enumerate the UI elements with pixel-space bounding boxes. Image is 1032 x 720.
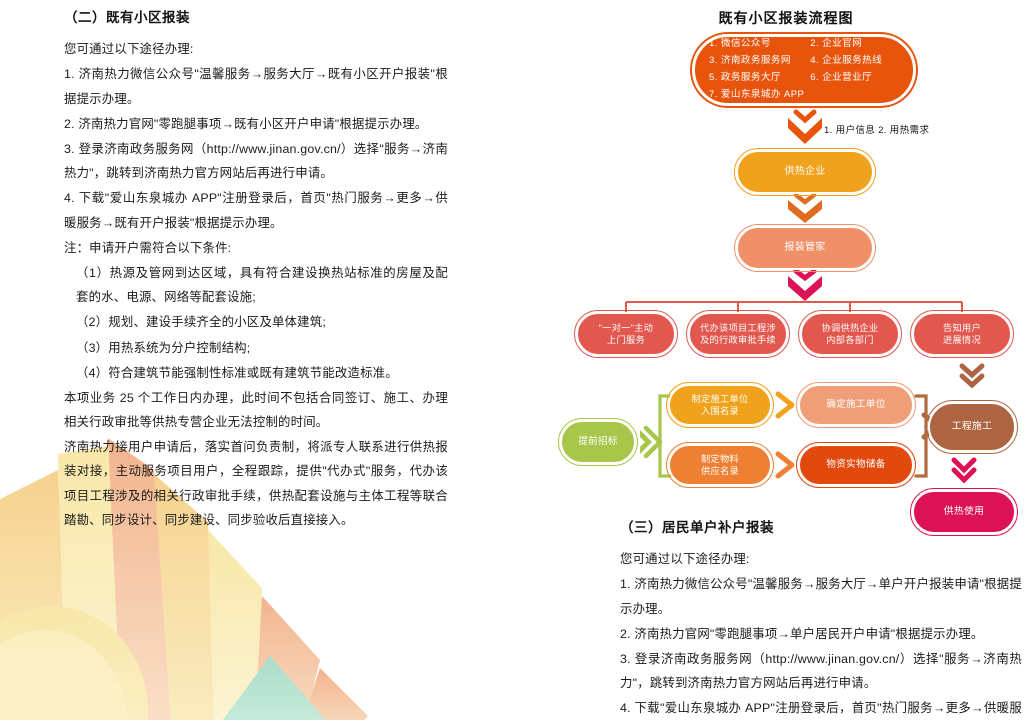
entry-channel-item: 4. 企业服务热线 bbox=[810, 54, 899, 69]
arrow-right-icon bbox=[778, 454, 792, 476]
flow-node-confirm-contractor[interactable]: 确定施工单位 bbox=[798, 384, 914, 426]
section-single-household: （三）居民单户补户报装 您可通过以下途径办理: 1. 济南热力微信公众号"温馨服… bbox=[604, 518, 1022, 720]
flow-node-entry-channels[interactable]: 1. 微信公众号 2. 企业官网 3. 济南政务服务网 4. 企业服务热线 5.… bbox=[692, 34, 916, 106]
entry-channel-item: 7. 爱山东泉城办 APP bbox=[709, 88, 804, 103]
entry-channel-list: 1. 微信公众号 2. 企业官网 3. 济南政务服务网 4. 企业服务热线 5.… bbox=[695, 33, 913, 106]
section-heading-single-household: （三）居民单户补户报装 bbox=[604, 518, 1022, 538]
chevron-down-icon bbox=[954, 460, 974, 480]
page-root: （二）既有小区报装 您可通过以下途径办理: 1. 济南热力微信公众号"温馨服务→… bbox=[0, 0, 1032, 720]
paragraph: 本项业务 25 个工作日内办理，此时间不包括合同签订、施工、办理相关行政审批等供… bbox=[48, 386, 448, 434]
paragraph: 1. 济南热力微信公众号"温馨服务→服务大厅→既有小区开户报装"根据提示办理。 bbox=[48, 62, 448, 110]
paragraph: 您可通过以下途径办理: bbox=[604, 547, 1022, 571]
paragraph: （4）符合建筑节能强制性标准或既有建筑节能改造标准。 bbox=[48, 361, 448, 385]
flow-node-service-onsite[interactable]: "一对一"主动 上门服务 bbox=[576, 312, 676, 356]
paragraph: 您可通过以下途径办理: bbox=[48, 37, 448, 61]
flow-node-service-permits[interactable]: 代办该项目工程涉 及的行政审批手续 bbox=[688, 312, 788, 356]
entry-channel-item: 3. 济南政务服务网 bbox=[709, 54, 804, 69]
paragraph: 1. 济南热力微信公众号"温馨服务→服务大厅→单户开户报装申请"根据提示办理。 bbox=[604, 572, 1022, 620]
flow-node-install-butler[interactable]: 报装管家 bbox=[736, 226, 874, 270]
arrow-right-icon bbox=[778, 394, 792, 416]
service-bus-connector bbox=[626, 302, 962, 312]
section-existing-community: （二）既有小区报装 您可通过以下途径办理: 1. 济南热力微信公众号"温馨服务→… bbox=[48, 8, 448, 533]
chevron-down-icon bbox=[962, 366, 982, 385]
flow-node-contractor-list[interactable]: 制定施工单位 入围名录 bbox=[668, 384, 772, 426]
paragraph: 济南热力接用户申请后，落实首问负责制，将派专人联系进行供热报装对接，主动服务项目… bbox=[48, 435, 448, 532]
paragraph: 2. 济南热力官网"零跑腿事项→既有小区开户申请"根据提示办理。 bbox=[48, 112, 448, 136]
flowchart: 既有小区报装流程图 bbox=[540, 0, 1032, 540]
flow-node-pre-bid[interactable]: 提前招标 bbox=[560, 420, 636, 464]
paragraph: 4. 下载"爱山东泉城办 APP"注册登录后，首页"热门服务→更多→供暖服务→单… bbox=[604, 696, 1022, 720]
entry-channel-item: 1. 微信公众号 bbox=[709, 37, 804, 52]
chevron-down-icon bbox=[788, 195, 822, 223]
section-heading-existing-community: （二）既有小区报装 bbox=[48, 8, 448, 28]
entry-annotation: 1. 用户信息 2. 用热需求 bbox=[824, 122, 929, 136]
flow-node-material-stock[interactable]: 物资实物储备 bbox=[798, 444, 914, 486]
entry-channel-item: 6. 企业营业厅 bbox=[810, 71, 899, 86]
paragraph: 注：申请开户需符合以下条件: bbox=[48, 236, 448, 260]
entry-channel-item: 2. 企业官网 bbox=[810, 37, 899, 52]
flow-node-heating-company[interactable]: 供热企业 bbox=[736, 150, 874, 194]
paragraph: （3）用热系统为分户控制结构; bbox=[48, 336, 448, 360]
flow-node-material-list[interactable]: 制定物料 供应名录 bbox=[668, 444, 772, 486]
bracket-right bbox=[916, 396, 926, 476]
flow-node-service-progress[interactable]: 告知用户 进展情况 bbox=[912, 312, 1012, 356]
paragraph: 2. 济南热力官网"零跑腿事项→单户居民开户申请"根据提示办理。 bbox=[604, 622, 1022, 646]
paragraph: （2）规划、建设手续齐全的小区及单体建筑; bbox=[48, 310, 448, 334]
paragraph: 3. 登录济南政务服务网（http://www.jinan.gov.cn/）选择… bbox=[604, 647, 1022, 695]
flow-node-service-coordination[interactable]: 协调供热企业 内部各部门 bbox=[800, 312, 900, 356]
chevron-down-icon bbox=[788, 112, 822, 144]
paragraph: 4. 下载"爱山东泉城办 APP"注册登录后，首页"热门服务→更多→供暖服务→既… bbox=[48, 186, 448, 234]
entry-channel-item: 5. 政务服务大厅 bbox=[709, 71, 804, 86]
flowchart-title: 既有小区报装流程图 bbox=[540, 8, 1032, 28]
chevron-down-icon bbox=[788, 271, 822, 301]
arrow-right-icon bbox=[640, 428, 660, 456]
flow-node-construction[interactable]: 工程施工 bbox=[928, 402, 1016, 452]
paragraph: （1）热源及管网到达区域，具有符合建设换热站标准的房屋及配套的水、电源、网络等配… bbox=[48, 261, 448, 309]
paragraph: 3. 登录济南政务服务网（http://www.jinan.gov.cn/）选择… bbox=[48, 137, 448, 185]
